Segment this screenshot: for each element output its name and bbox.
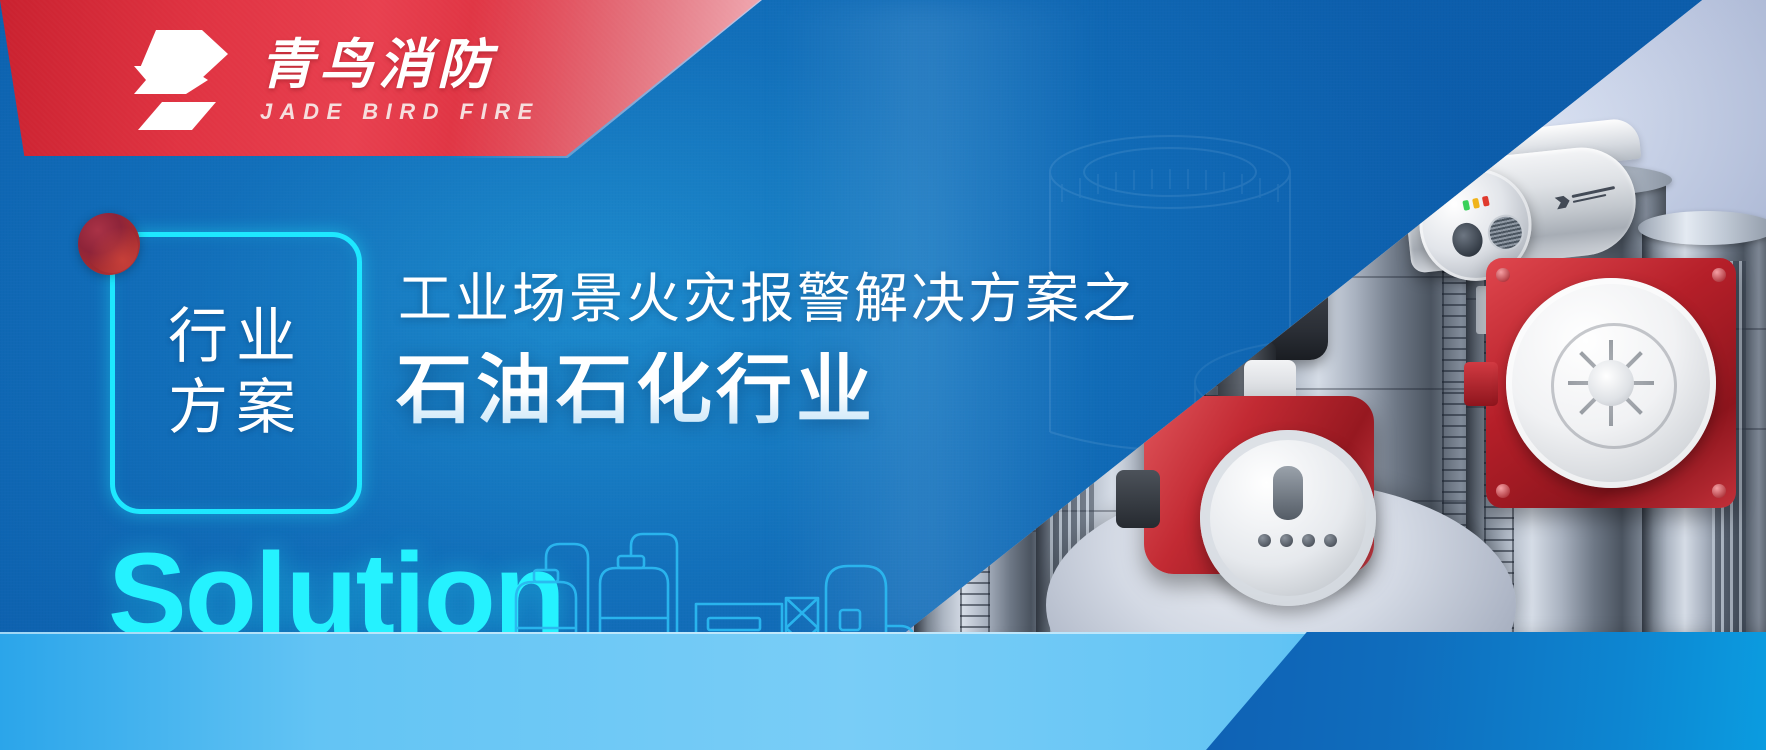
footer-bar <box>0 632 1766 750</box>
badge-line-1: 行业 <box>168 302 304 373</box>
industry-solution-badge: 行业 方案 <box>110 232 362 514</box>
brand-name-cn: 青鸟消防 <box>260 38 540 92</box>
heat-smoke-detector-icon <box>1486 258 1748 516</box>
badge-line-2: 方案 <box>168 373 304 444</box>
brand-logo: 青鸟消防 JADE BIRD FIRE <box>126 28 540 132</box>
camera-status-leds <box>1462 196 1490 211</box>
badge-accent-dot <box>78 213 140 275</box>
headline-subtitle: 工业场景火灾报警解决方案之 <box>398 272 1139 326</box>
footer-accent-wedge <box>1206 632 1766 750</box>
jade-bird-arrow-logo-icon <box>126 28 238 132</box>
solution-hero-banner: 青鸟消防 JADE BIRD FIRE 行业 方案 工业场景火灾报警解决方案之 … <box>0 0 1766 750</box>
brand-name-en: JADE BIRD FIRE <box>260 101 540 123</box>
page-title: 石油石化行业 <box>396 352 876 428</box>
camera-brand-mark-icon <box>1554 183 1618 212</box>
